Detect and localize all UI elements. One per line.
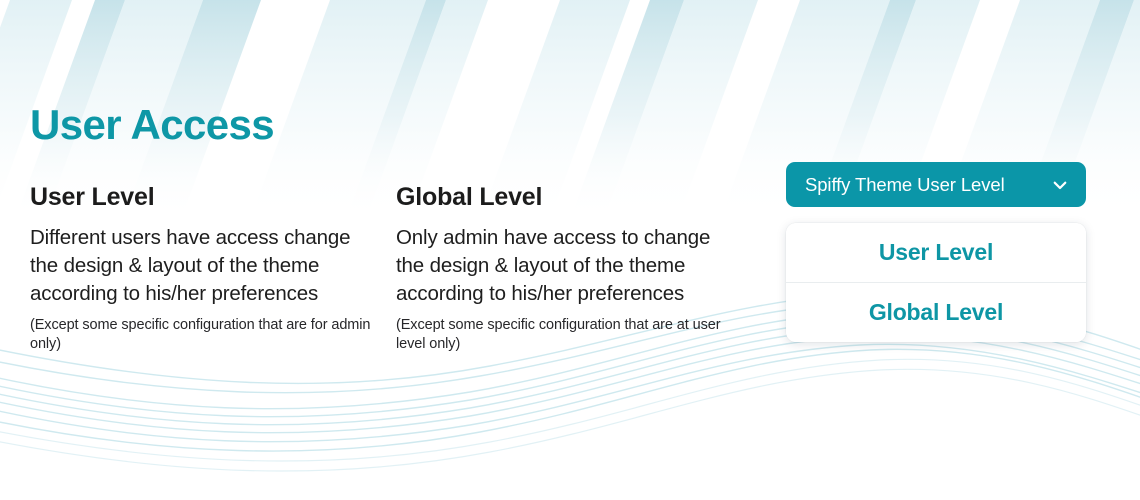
dropdown-menu: User Level Global Level xyxy=(786,223,1086,342)
page-title: User Access xyxy=(30,104,274,146)
column-body-text: Only admin have access to change the des… xyxy=(396,224,726,309)
column-heading: User Level xyxy=(30,184,380,212)
column-note-text: (Except some specific configuration that… xyxy=(396,316,726,354)
column-global-level: Global Level Only admin have access to c… xyxy=(396,184,726,355)
column-heading: Global Level xyxy=(396,184,726,212)
column-user-level: User Level Different users have access c… xyxy=(30,184,380,355)
chevron-down-icon xyxy=(1051,176,1069,194)
dropdown-item-user-level[interactable]: User Level xyxy=(786,223,1086,282)
user-level-dropdown: Spiffy Theme User Level User Level Globa… xyxy=(786,162,1086,342)
dropdown-toggle-button[interactable]: Spiffy Theme User Level xyxy=(786,162,1086,207)
dropdown-item-global-level[interactable]: Global Level xyxy=(786,282,1086,342)
column-body-text: Different users have access change the d… xyxy=(30,224,380,309)
column-note-text: (Except some specific configuration that… xyxy=(30,316,380,354)
dropdown-selected-label: Spiffy Theme User Level xyxy=(805,174,1005,196)
page-content: User Access User Level Different users h… xyxy=(0,0,1140,500)
